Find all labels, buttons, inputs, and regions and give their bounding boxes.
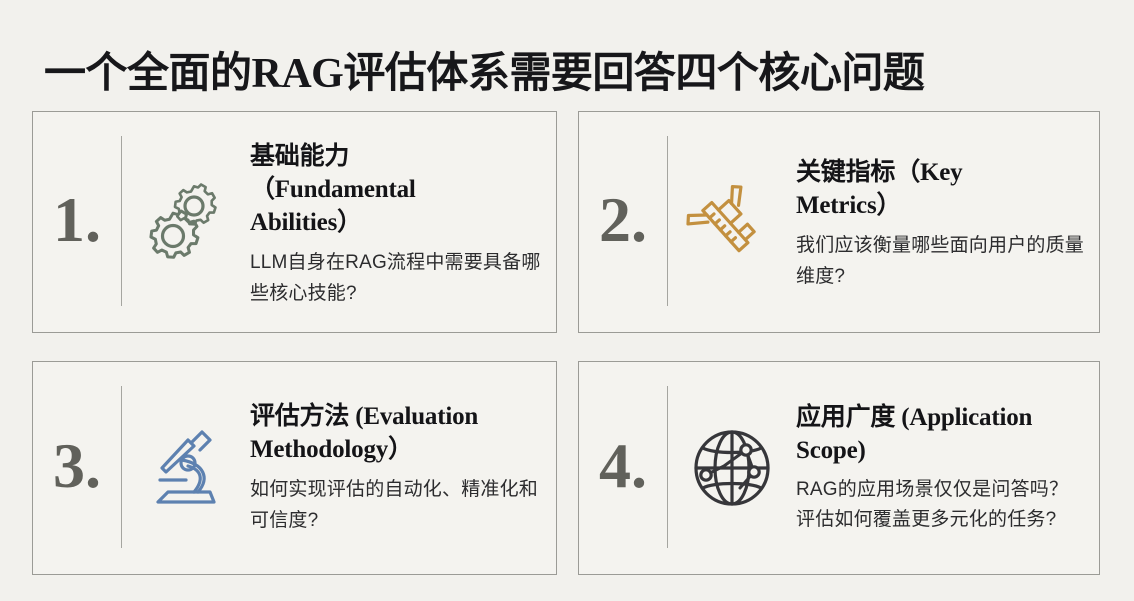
card-body: LLM自身在RAG流程中需要具备哪些核心技能? xyxy=(250,247,542,309)
card-heading: 基础能力（Fundamental Abilities） xyxy=(250,140,500,239)
slide-root: 一个全面的RAG评估体系需要回答四个核心问题 1. xyxy=(0,0,1134,601)
cards-grid: 1. 基础 xyxy=(32,111,1100,576)
card-number-column: 3. xyxy=(33,362,121,574)
card-evaluation-methodology[interactable]: 3. xyxy=(32,361,557,575)
card-number: 2. xyxy=(599,188,647,252)
text-column: 基础能力（Fundamental Abilities） LLM自身在RAG流程中… xyxy=(250,112,556,332)
card-key-metrics[interactable]: 2. xyxy=(578,111,1100,333)
card-body: RAG的应用场景仅仅是问答吗？评估如何覆盖更多元化的任务? xyxy=(796,475,1085,535)
card-number: 3. xyxy=(53,434,101,498)
card-heading: 评估方法 (Evaluation Methodology） xyxy=(250,400,542,466)
card-number-column: 4. xyxy=(579,362,667,574)
card-body: 我们应该衡量哪些面向用户的质量维度? xyxy=(796,230,1085,292)
page-title: 一个全面的RAG评估体系需要回答四个核心问题 xyxy=(44,46,1104,102)
icon-column xyxy=(122,362,250,574)
card-number-column: 1. xyxy=(33,112,121,332)
card-number: 1. xyxy=(53,188,101,252)
card-body: 如何实现评估的自动化、精准化和可信度? xyxy=(250,474,542,536)
text-column: 关键指标（Key Metrics） 我们应该衡量哪些面向用户的质量维度? xyxy=(796,112,1099,332)
card-heading: 应用广度 (Application Scope) xyxy=(796,401,1085,467)
text-column: 应用广度 (Application Scope) RAG的应用场景仅仅是问答吗？… xyxy=(796,362,1099,574)
icon-column xyxy=(122,112,250,332)
card-fundamental-abilities[interactable]: 1. 基础 xyxy=(32,111,557,333)
globe-network-icon xyxy=(684,420,780,516)
microscope-icon xyxy=(138,420,234,516)
text-column: 评估方法 (Evaluation Methodology） 如何实现评估的自动化… xyxy=(250,362,556,574)
card-number-column: 2. xyxy=(579,112,667,332)
gears-icon xyxy=(138,174,234,270)
card-number: 4. xyxy=(599,434,647,498)
icon-column xyxy=(668,362,796,574)
card-application-scope[interactable]: 4. xyxy=(578,361,1100,575)
caliper-icon xyxy=(684,174,780,270)
card-heading: 关键指标（Key Metrics） xyxy=(796,156,1031,222)
icon-column xyxy=(668,112,796,332)
